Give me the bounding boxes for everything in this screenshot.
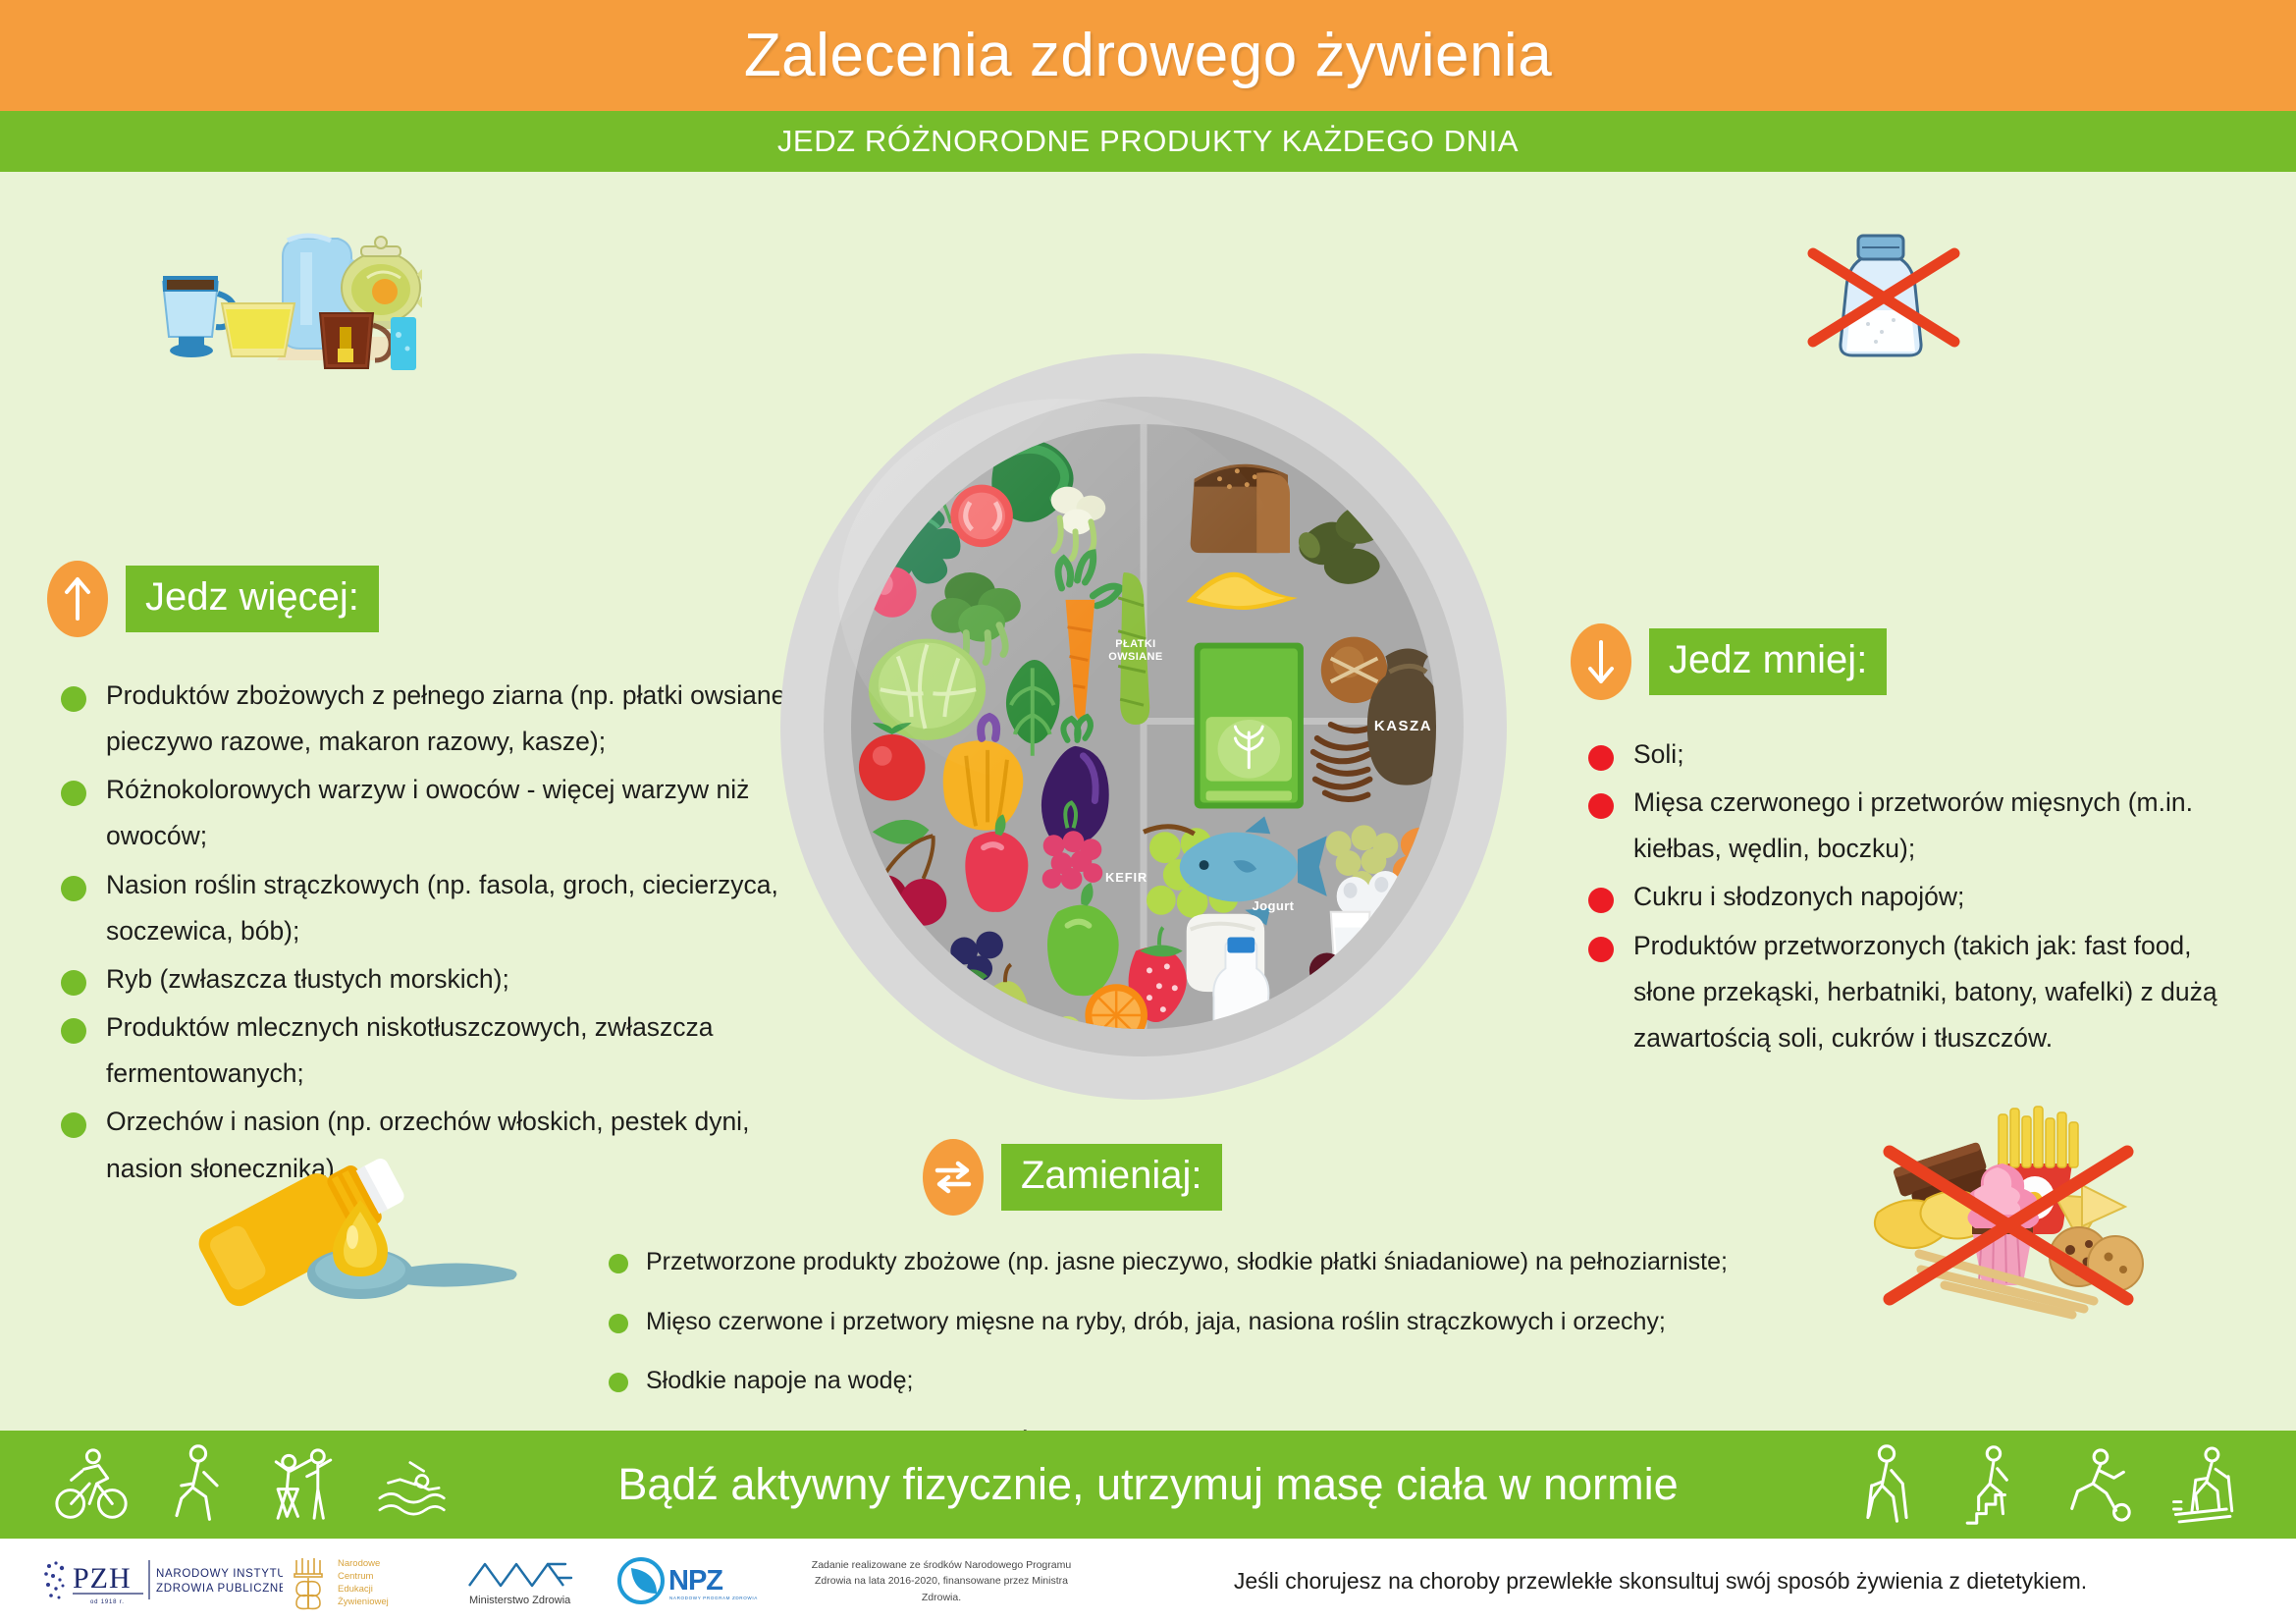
bullet-dot: [61, 1018, 86, 1044]
page-title: Zalecenia zdrowego żywienia: [744, 26, 1552, 86]
svg-text:NPZ: NPZ: [668, 1565, 722, 1597]
list-item-text: Przetworzone produkty zbożowe (np. jasne…: [646, 1248, 1728, 1275]
list-item-text: Produktów mlecznych niskotłuszczowych, z…: [106, 1012, 714, 1088]
stairs-climbing-icon: [1956, 1442, 2029, 1527]
running-icon: [2062, 1442, 2135, 1527]
bullet-dot: [61, 781, 86, 806]
list-item: Mięsa czerwonego i przetworów mięsnych (…: [1582, 780, 2260, 872]
list-item-text: Ryb (zwłaszcza tłustych morskich);: [106, 964, 509, 994]
bullet-dot: [609, 1373, 628, 1392]
list-item-text: Mięso czerwone i przetwory mięsne na ryb…: [646, 1308, 1666, 1335]
footer: PZH od 1918 r. NARODOWY INSTYTUT ZDROWIA…: [0, 1539, 2296, 1624]
footer-logos: PZH od 1918 r. NARODOWY INSTYTUT ZDROWIA…: [37, 1552, 1084, 1611]
activity-band: Bądź aktywny fizycznie, utrzymuj masę ci…: [0, 1431, 2296, 1539]
cycling-icon: [55, 1442, 128, 1527]
bullet-dot: [609, 1254, 628, 1273]
drinks-illustration: [128, 211, 422, 388]
junk-food-crossed-out-icon: [1850, 1105, 2184, 1330]
svg-text:Ministerstwo Zdrowia: Ministerstwo Zdrowia: [469, 1595, 571, 1606]
svg-text:ZDROWIA PUBLICZNEGO: ZDROWIA PUBLICZNEGO: [156, 1583, 283, 1595]
svg-text:Centrum: Centrum: [338, 1571, 374, 1582]
svg-text:NARODOWY PROGRAM ZDROWIA: NARODOWY PROGRAM ZDROWIA: [669, 1596, 758, 1600]
walking-icon: [161, 1442, 234, 1527]
bullet-dot: [1588, 937, 1614, 962]
activity-title: Bądź aktywny fizycznie, utrzymuj masę ci…: [446, 1459, 1850, 1510]
kefir-bottle-label: KEFIR: [1093, 871, 1161, 886]
activity-icons-left: [55, 1442, 446, 1527]
plate-food-illustrations: [851, 424, 1436, 1029]
vegetable-oil-and-spoon-illustration: [172, 1139, 564, 1335]
bullet-dot: [1588, 745, 1614, 771]
list-item: Produktów zbożowych z pełnego ziarna (np…: [55, 673, 801, 765]
dancing-icon: [267, 1442, 340, 1527]
activity-icons-right: [1850, 1442, 2241, 1527]
eat-less-label: Jedz mniej:: [1649, 628, 1887, 695]
bullet-dot: [61, 686, 86, 712]
svg-text:NARODOWY INSTYTUT: NARODOWY INSTYTUT: [156, 1568, 283, 1580]
svg-text:Narodowe: Narodowe: [338, 1558, 380, 1569]
cereal-box-label: PŁATKI OWSIANE: [1095, 638, 1177, 663]
ncez-logo: Narodowe Centrum Edukacji Żywieniowej: [283, 1552, 440, 1611]
ministerstwo-zdrowia-logo: Ministerstwo Zdrowia: [440, 1554, 612, 1609]
arrow-down-icon: [1571, 623, 1631, 700]
bullet-dot: [1588, 793, 1614, 819]
eat-more-label: Jedz więcej:: [126, 566, 379, 632]
header-title-band: Zalecenia zdrowego żywienia: [0, 0, 2296, 111]
bullet-dot: [61, 970, 86, 996]
eat-less-list: Soli; Mięsa czerwonego i przetworów mięs…: [1582, 731, 2260, 1063]
eat-more-heading: Jedz więcej:: [47, 561, 379, 637]
list-item: Cukru i słodzonych napojów;: [1582, 874, 2260, 920]
grain-sack-label: KASZA: [1368, 718, 1436, 734]
list-item: Nasion roślin strączkowych (np. fasola, …: [55, 862, 801, 954]
list-item-text: Cukru i słodzonych napojów;: [1633, 882, 1964, 911]
list-item-text: Produktów zbożowych z pełnego ziarna (np…: [106, 680, 793, 756]
skiing-icon: [2168, 1442, 2241, 1527]
header-subtitle-band: JEDZ RÓŻNORODNE PRODUKTY KAŻDEGO DNIA: [0, 111, 2296, 172]
list-item-text: Słodkie napoje na wodę;: [646, 1367, 913, 1394]
pzh-logo: PZH od 1918 r. NARODOWY INSTYTUT ZDROWIA…: [37, 1554, 283, 1609]
svg-text:Edukacji: Edukacji: [338, 1584, 373, 1595]
list-item: Soli;: [1582, 731, 2260, 778]
list-item-text: Soli;: [1633, 739, 1684, 769]
list-item: Słodkie napoje na wodę;: [601, 1361, 1877, 1401]
list-item: Przetworzone produkty zbożowe (np. jasne…: [601, 1242, 1877, 1282]
healthy-eating-plate: PŁATKI OWSIANE KASZA KEFIR Jogurt: [780, 353, 1507, 1100]
swap-label: Zamieniaj:: [1001, 1144, 1222, 1211]
bullet-dot: [609, 1314, 628, 1333]
content-area: Jedz więcej: Produktów zbożowych z pełne…: [0, 172, 2296, 1431]
svg-text:od 1918 r.: od 1918 r.: [90, 1599, 125, 1605]
page-subtitle: JEDZ RÓŻNORODNE PRODUKTY KAŻDEGO DNIA: [777, 124, 1519, 159]
bullet-dot: [1588, 888, 1614, 913]
bullet-dot: [61, 1112, 86, 1138]
list-item: Ryb (zwłaszcza tłustych morskich);: [55, 956, 801, 1002]
bullet-dot: [61, 876, 86, 901]
list-item: Produktów mlecznych niskotłuszczowych, z…: [55, 1004, 801, 1097]
eat-less-heading: Jedz mniej:: [1571, 623, 1887, 700]
list-item: Różnokolorowych warzyw i owoców - więcej…: [55, 767, 801, 859]
swap-arrows-icon: [923, 1139, 984, 1216]
eat-more-list: Produktów zbożowych z pełnego ziarna (np…: [55, 673, 801, 1194]
footer-note: Jeśli chorujesz na choroby przewlekłe sk…: [1084, 1568, 2296, 1595]
list-item-text: Mięsa czerwonego i przetworów mięsnych (…: [1633, 787, 2193, 863]
svg-text:Żywieniowej: Żywieniowej: [338, 1597, 389, 1607]
funding-text: Zadanie realizowane ze środków Narodoweg…: [799, 1557, 1084, 1605]
list-item-text: Nasion roślin strączkowych (np. fasola, …: [106, 870, 778, 946]
list-item-text: Różnokolorowych warzyw i owoców - więcej…: [106, 775, 749, 850]
swap-heading: Zamieniaj:: [923, 1139, 1222, 1216]
npz-logo: NPZ NARODOWY PROGRAM ZDROWIA: [612, 1554, 783, 1609]
plate-surface: PŁATKI OWSIANE KASZA KEFIR Jogurt: [851, 424, 1436, 1029]
swimming-icon: [373, 1442, 446, 1527]
infographic-poster: Zalecenia zdrowego żywienia JEDZ RÓŻNORO…: [0, 0, 2296, 1624]
arrow-up-icon: [47, 561, 108, 637]
nordic-walking-icon: [1850, 1442, 1923, 1527]
list-item: Produktów przetworzonych (takich jak: fa…: [1582, 923, 2260, 1061]
salt-shaker-crossed-out-icon: [1791, 216, 2002, 403]
list-item: Mięso czerwone i przetwory mięsne na ryb…: [601, 1302, 1877, 1342]
list-item-text: Produktów przetworzonych (takich jak: fa…: [1633, 931, 2217, 1053]
yogurt-cup-label: Jogurt: [1235, 899, 1311, 914]
svg-text:PZH: PZH: [73, 1562, 132, 1595]
